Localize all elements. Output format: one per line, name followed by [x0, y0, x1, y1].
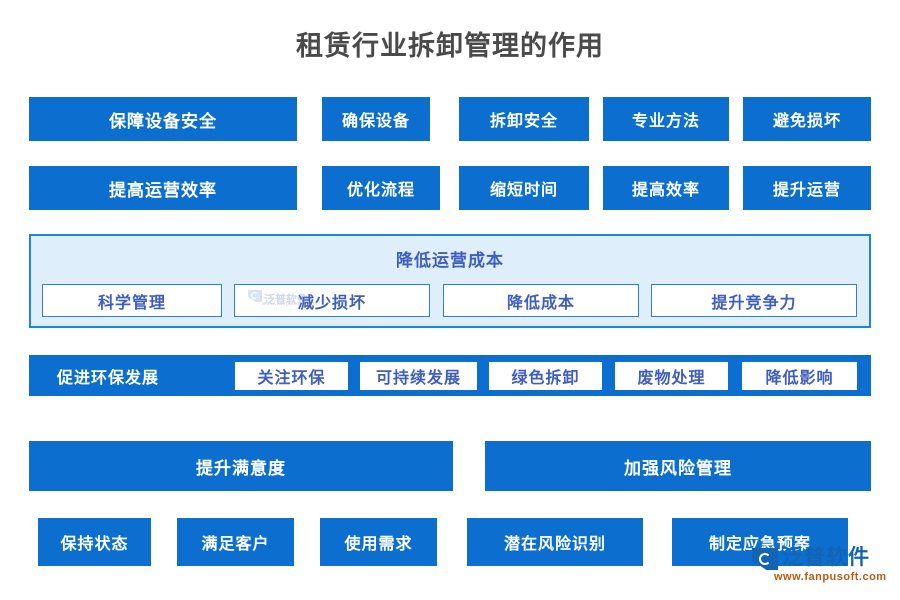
- chip-satisfaction-item-1[interactable]: 满足客户: [177, 518, 294, 566]
- chip-safety-item-0[interactable]: 确保设备: [322, 97, 430, 141]
- chip-environment-item-3[interactable]: 废物处理: [615, 362, 728, 390]
- watermark-url-text: www.fanpusoft.com: [774, 571, 887, 583]
- chip-safety-item-3[interactable]: 避免损坏: [743, 97, 871, 141]
- chip-risk-item-0[interactable]: 潜在风险识别: [467, 518, 643, 566]
- chip-efficiency-item-1[interactable]: 缩短时间: [459, 166, 589, 210]
- chip-safety-item-2[interactable]: 专业方法: [603, 97, 729, 141]
- chip-environment-item-2[interactable]: 绿色拆卸: [489, 362, 602, 390]
- chip-safety-lead[interactable]: 保障设备安全: [29, 97, 297, 141]
- chip-satisfaction-lead[interactable]: 提升满意度: [29, 441, 453, 491]
- chip-satisfaction-item-2[interactable]: 使用需求: [320, 518, 437, 566]
- bar-environment-label: 促进环保发展: [57, 355, 159, 396]
- chip-cost-item-0[interactable]: 科学管理: [42, 284, 222, 317]
- chip-cost-item-3[interactable]: 提升竞争力: [651, 284, 857, 317]
- chip-risk-lead[interactable]: 加强风险管理: [485, 441, 871, 491]
- chip-cost-item-1[interactable]: 减少损坏: [234, 284, 430, 317]
- page-title: 租赁行业拆卸管理的作用: [0, 26, 900, 66]
- chip-efficiency-item-0[interactable]: 优化流程: [322, 166, 440, 210]
- chip-efficiency-item-3[interactable]: 提升运营: [743, 166, 871, 210]
- chip-environment-item-0[interactable]: 关注环保: [235, 362, 348, 390]
- chip-environment-item-1[interactable]: 可持续发展: [360, 362, 477, 390]
- chip-safety-item-1[interactable]: 拆卸安全: [459, 97, 589, 141]
- chip-efficiency-item-2[interactable]: 提高效率: [603, 166, 729, 210]
- chip-risk-item-1[interactable]: 制定应急预案: [672, 518, 848, 566]
- chip-environment-item-4[interactable]: 降低影响: [742, 362, 857, 390]
- infographic-canvas: 租赁行业拆卸管理的作用 保障设备安全 确保设备 拆卸安全 专业方法 避免损坏 提…: [0, 0, 900, 600]
- panel-cost-title: 降低运营成本: [31, 246, 869, 271]
- chip-satisfaction-item-0[interactable]: 保持状态: [38, 518, 151, 566]
- chip-efficiency-lead[interactable]: 提高运营效率: [29, 166, 297, 210]
- chip-cost-item-2[interactable]: 降低成本: [443, 284, 639, 317]
